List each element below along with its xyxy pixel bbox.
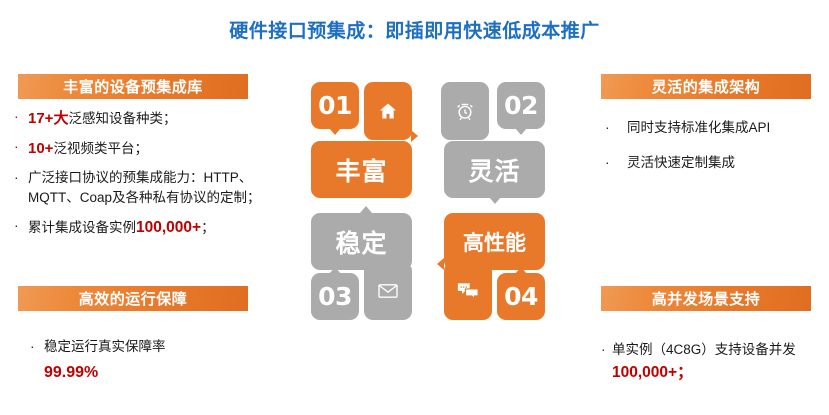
- list-item: · 10+泛视频类平台；: [14, 137, 286, 160]
- bullet-marker: ·: [14, 107, 28, 127]
- panel-header-bottom-right: 高并发场景支持: [601, 286, 811, 311]
- highlight-number: 100,000+: [136, 219, 201, 236]
- quadrant-01-label: 丰富: [311, 141, 412, 198]
- quadrant-04-icon-tile: [444, 262, 492, 320]
- alarm-clock-icon: [455, 101, 475, 121]
- bullet-marker: ·: [14, 168, 28, 188]
- list-item-text: 灵活快速定制集成: [627, 153, 823, 174]
- panel-body-bottom-left: · 稳定运行真实保障率99.99%: [30, 337, 286, 393]
- quadrant-01-number-pointer: [329, 128, 341, 135]
- list-item-text: 稳定运行真实保障率99.99%: [44, 337, 286, 386]
- list-item-text: 累计集成设备实例100,000+；: [28, 216, 286, 240]
- highlight-number: 10+: [28, 140, 53, 157]
- highlight-number: 17+大: [28, 110, 68, 127]
- list-item: · 稳定运行真实保障率99.99%: [30, 337, 286, 386]
- list-item-text: 10+泛视频类平台；: [28, 137, 286, 160]
- bullet-marker: ·: [14, 216, 28, 236]
- panel-body-bottom-right: · 单实例（4C8G）支持设备并发100,000+；: [601, 340, 827, 392]
- panel-body-top-right: · 同时支持标准化集成API · 灵活快速定制集成: [605, 118, 823, 181]
- panel-header-bottom-left: 高效的运行保障: [18, 286, 248, 311]
- list-item-lead: 稳定运行真实保障率: [44, 339, 166, 354]
- bullet-marker: ·: [601, 340, 612, 360]
- list-item-text: 广泛接口协议的预集成能力：HTTP、MQTT、Coap及各种私有协议的定制；: [28, 168, 286, 210]
- bullet-marker: ·: [30, 337, 44, 357]
- quadrant-01-number: 01: [311, 82, 359, 129]
- bullet-marker: ·: [605, 118, 627, 138]
- bullet-marker: ·: [605, 153, 627, 173]
- list-item: · 单实例（4C8G）支持设备并发100,000+；: [601, 340, 827, 385]
- list-item-lead: 单实例（4C8G）支持设备并发: [612, 342, 796, 357]
- quadrant-03-icon-tile: [364, 262, 412, 320]
- list-item-text: 单实例（4C8G）支持设备并发100,000+；: [612, 340, 827, 385]
- quadrant-03-number: 03: [311, 273, 359, 320]
- list-item: · 累计集成设备实例100,000+；: [14, 216, 286, 240]
- list-item: · 灵活快速定制集成: [605, 153, 823, 174]
- panel-header-top-right: 灵活的集成架构: [601, 74, 811, 99]
- quadrant-01-icon-tile: [364, 82, 412, 140]
- list-item-text: 同时支持标准化集成API: [627, 118, 823, 139]
- envelope-icon: [378, 283, 398, 299]
- chat-bubble-icon: [457, 282, 479, 300]
- list-item-rest: 泛感知设备种类；: [68, 111, 176, 126]
- quadrant-04-side-pointer: [437, 258, 444, 270]
- list-item: · 17+大泛感知设备种类；: [14, 107, 286, 130]
- list-item: · 广泛接口协议的预集成能力：HTTP、MQTT、Coap及各种私有协议的定制；: [14, 168, 286, 210]
- panel-header-top-left: 丰富的设备预集成库: [18, 74, 248, 99]
- slide-root: 硬件接口预集成：即插即用快速低成本推广 丰富的设备预集成库 · 17+大泛感知设…: [0, 0, 829, 415]
- quadrant-02-bottom-pointer: [489, 197, 501, 204]
- list-item-lead: 累计集成设备实例: [28, 220, 136, 235]
- quadrant-04-number: 04: [497, 273, 545, 320]
- bullet-marker: ·: [14, 137, 28, 157]
- four-quadrant-diagram: 01 丰富: [303, 82, 553, 322]
- list-item: · 同时支持标准化集成API: [605, 118, 823, 139]
- quadrant-02-number-pointer: [515, 128, 527, 135]
- page-title: 硬件接口预集成：即插即用快速低成本推广: [0, 16, 829, 43]
- home-icon: [378, 101, 398, 121]
- quadrant-03-top-pointer: [360, 206, 372, 213]
- list-item-text: 17+大泛感知设备种类；: [28, 107, 286, 130]
- highlight-number: 99.99%: [44, 361, 286, 386]
- quadrant-02-label: 灵活: [444, 141, 545, 198]
- list-item-rest: 泛视频类平台；: [53, 141, 148, 156]
- quadrant-02-number: 02: [497, 82, 545, 129]
- quadrant-01-side-pointer: [411, 130, 418, 142]
- list-item-tail: ；: [201, 220, 215, 235]
- quadrant-02-icon-tile: [441, 82, 489, 140]
- highlight-number: 100,000+；: [612, 364, 693, 381]
- panel-body-top-left: · 17+大泛感知设备种类； · 10+泛视频类平台； · 广泛接口协议的预集成…: [14, 107, 286, 247]
